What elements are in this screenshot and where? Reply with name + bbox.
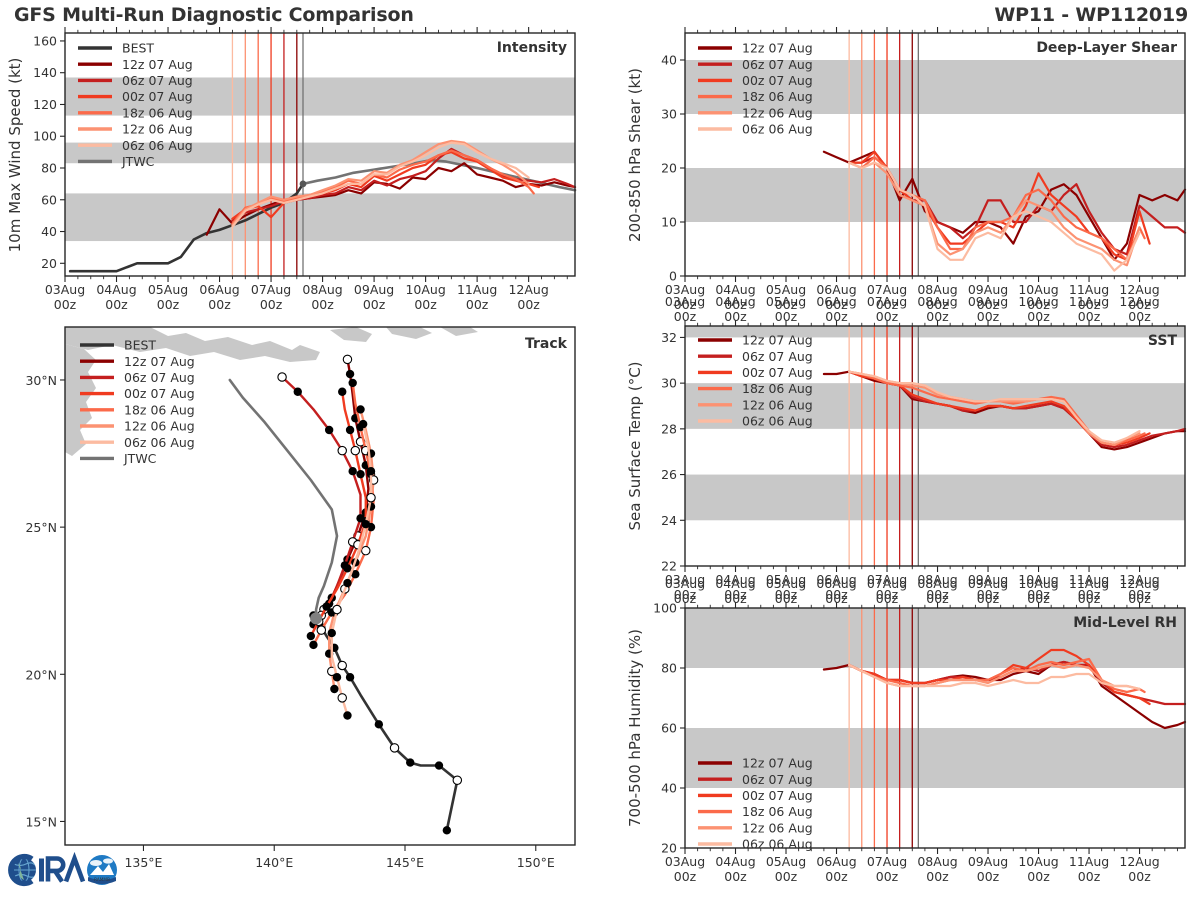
track-marker-filled [356,423,364,431]
series-06z-07-aug [232,149,575,221]
x-tick-day-label: 08Aug [917,294,957,309]
x-tick-hour-label: 00z [825,297,848,312]
track-jtwc [230,380,337,618]
track-marker-filled [362,508,370,516]
y-tick-label: 28 [661,421,677,436]
plot-frame [685,608,1185,848]
x-tick-hour-label: 00z [977,297,1000,312]
series-12z-06-aug [849,372,1139,445]
lon-tick-label: 140°E [255,855,293,870]
x-tick-hour-label: 00z [724,587,747,602]
series-best [70,184,303,271]
x-tick-day-label: 11Aug [1069,294,1109,309]
x-tick-day-label: 12Aug [1119,282,1159,297]
series-12z-07-aug [824,372,1185,450]
x-tick-hour-label: 00z [724,869,747,884]
x-axis-tick-group: 05Aug00z [766,282,806,312]
series-18z-06-aug [849,659,1145,692]
legend-label-06z-07-aug: 06z 07 Aug [122,73,193,88]
shear-y-axis-title: 200-850 hPa Shear (kt) [626,68,644,242]
track-marker-open [453,776,461,784]
x-tick-day-label: 06Aug [816,282,856,297]
x-tick-day-label: 07Aug [867,282,907,297]
x-tick-day-label: 04Aug [715,854,755,869]
x-tick-hour-label: 00z [1128,587,1151,602]
x-axis-tick-group: 11Aug00z [457,282,497,312]
intensity-y-axis-title: 10m Max Wind Speed (kt) [6,58,24,253]
series-12z-07-aug [824,152,1185,260]
y-tick-label: 40 [661,53,677,68]
best-endpoint-marker [300,180,307,187]
series-jtwc [303,160,575,190]
x-tick-day-label: 04Aug [96,282,136,297]
track-marker-open [312,614,320,622]
x-tick-hour-label: 00z [724,297,747,312]
x-tick-day-label: 12Aug [1119,854,1159,869]
legend-label-18z-06-aug: 18z 06 Aug [124,402,195,417]
x-tick-hour-label: 00z [876,297,899,312]
ocean-background [65,327,575,845]
background-band [65,77,575,115]
legend-label-12z-07-aug: 12z 07 Aug [742,333,813,348]
track-marker-open [338,661,346,669]
track-06z-06-aug [332,424,371,715]
track-marker-filled [367,470,375,478]
x-tick-hour-label: 00z [1078,297,1101,312]
x-tick-day-label: 05Aug [148,282,188,297]
sst-y-axis-title: Sea Surface Temp (°C) [626,361,644,530]
x-tick-day-label: 05Aug [766,294,806,309]
track-marker-filled [330,644,338,652]
legend-label-06z-06-aug: 06z 06 Aug [122,138,193,153]
x-axis-tick-group: 05Aug00z [766,572,806,602]
x-tick-day-label: 12Aug [508,282,548,297]
y-tick-label: 22 [661,559,677,574]
track-marker-filled [341,561,349,569]
x-tick-day-label: 04Aug [715,294,755,309]
track-marker-filled [356,405,364,413]
track-marker-filled [346,673,354,681]
x-axis-tick-group: 12Aug00z [1119,576,1159,606]
x-tick-hour-label: 00z [977,869,1000,884]
lat-tick-label: 25°N [25,520,57,535]
x-axis-tick-group: 04Aug00z [715,282,755,312]
x-axis-tick-group: 07Aug00z [867,572,907,602]
track-06z-07-aug [282,377,360,624]
x-tick-day-label: 05Aug [766,282,806,297]
x-tick-hour-label: 00z [674,869,697,884]
series-12z-07-aug [207,163,575,235]
series-18z-06-aug [849,157,1145,260]
x-tick-day-label: 03Aug [665,576,705,591]
track-marker-filled [309,611,317,619]
track-marker-filled [309,641,317,649]
lat-tick-label: 30°N [25,373,57,388]
x-tick-hour-label: 00z [926,869,949,884]
series-00z-07-aug [849,372,1150,445]
x-axis-tick-group: 11Aug00z [1069,282,1109,312]
track-marker-filled [338,388,346,396]
y-tick-label: 10 [661,215,677,230]
landmass-0 [65,327,320,362]
track-marker-filled [367,523,375,531]
track-marker-filled [348,379,356,387]
track-18z-06-aug [314,383,374,645]
legend-label-06z-06-aug: 06z 06 Aug [742,414,813,429]
page-title: GFS Multi-Run Diagnostic Comparison [14,4,414,26]
track-marker-filled [367,502,375,510]
track-marker-filled [348,467,356,475]
x-tick-hour-label: 00z [674,309,697,324]
x-axis-tick-group: 09Aug00z [968,854,1008,884]
x-axis-tick-group: 12Aug00z [508,282,548,312]
legend-label-06z-06-aug: 06z 06 Aug [742,837,813,852]
track-marker-open [278,373,286,381]
track-marker-open [333,605,341,613]
x-tick-day-label: 10Aug [1018,282,1058,297]
landmass-3 [386,327,432,339]
x-axis-tick-group: 12Aug00z [1119,282,1159,312]
track-marker-filled [367,467,375,475]
x-tick-day-label: 07Aug [867,294,907,309]
track-marker-filled [362,517,370,525]
x-tick-day-label: 06Aug [816,854,856,869]
x-axis-tick-group: 09Aug00z [968,576,1008,606]
x-axis-tick-group: 07Aug00z [867,576,907,606]
x-tick-day-label: 04Aug [715,572,755,587]
background-band [685,326,1185,337]
x-axis-tick-group: 04Aug00z [96,282,136,312]
legend-label-12z-06-aug: 12z 06 Aug [742,397,813,412]
track-best [314,615,458,830]
track-marker-open [338,694,346,702]
x-tick-hour-label: 00z [825,591,848,606]
x-axis-tick-group: 03Aug00z [665,282,705,312]
x-tick-day-label: 05Aug [766,572,806,587]
track-marker-open [369,476,377,484]
x-tick-day-label: 08Aug [917,282,957,297]
y-tick-label: 140 [33,65,57,80]
lon-tick-label: 145°E [386,855,424,870]
track-marker-filled [343,579,351,587]
x-tick-hour-label: 00z [876,309,899,324]
x-tick-day-label: 03Aug [665,572,705,587]
x-axis-tick-group: 05Aug00z [766,576,806,606]
track-marker-filled [406,758,414,766]
x-tick-day-label: 09Aug [354,282,394,297]
series-06z-06-aug [849,372,1139,443]
plot-frame [685,326,1185,566]
x-axis-tick-group: 03Aug00z [665,576,705,606]
x-axis-tick-group: 09Aug00z [968,572,1008,602]
background-band [685,60,1185,114]
x-axis-tick-group: 08Aug00z [917,854,957,884]
x-axis-tick-group: 07Aug00z [867,294,907,324]
x-tick-day-label: 11Aug [1069,576,1109,591]
x-axis-tick-group: 05Aug00z [766,294,806,324]
x-tick-hour-label: 00z [54,297,77,312]
lon-tick-label: 150°E [517,855,555,870]
track-marker-filled [351,558,359,566]
x-tick-day-label: 03Aug [665,282,705,297]
x-tick-hour-label: 00z [1027,869,1050,884]
track-marker-filled [322,602,330,610]
x-axis-tick-group: 10Aug00z [1018,576,1058,606]
x-tick-hour-label: 00z [825,309,848,324]
series-00z-07-aug [232,152,539,219]
track-marker-open [354,532,362,540]
track-marker-filled [346,370,354,378]
logo-letter-r [48,859,63,882]
x-tick-day-label: 09Aug [968,282,1008,297]
legend-label-18z-06-aug: 18z 06 Aug [742,804,813,819]
legend-label-00z-07-aug: 00z 07 Aug [742,365,813,380]
x-axis-tick-group: 09Aug00z [354,282,394,312]
x-axis-tick-group: 04Aug00z [715,294,755,324]
y-tick-label: 20 [41,256,57,271]
legend-label-18z-06-aug: 18z 06 Aug [122,105,193,120]
x-tick-hour-label: 00z [876,869,899,884]
x-axis-tick-group: 04Aug00z [715,572,755,602]
track-marker-filled [333,673,341,681]
x-axis-tick-group: 09Aug00z [968,282,1008,312]
x-tick-hour-label: 00z [674,587,697,602]
series-18z-06-aug [232,151,533,224]
x-axis-tick-group: 11Aug00z [1069,854,1109,884]
panel-title-sst: SST [1148,333,1178,349]
x-tick-hour-label: 00z [876,587,899,602]
background-band [65,143,575,164]
legend-label-jtwc: JTWC [123,451,157,466]
logo-letter-i [39,859,44,882]
x-tick-hour-label: 00z [1128,297,1151,312]
track-marker-filled [307,632,315,640]
legend-label-12z-06-aug: 12z 06 Aug [742,820,813,835]
track-marker-open [320,605,328,613]
series-06z-06-aug [232,143,528,227]
landmass-4 [440,327,478,336]
track-marker-filled [359,420,367,428]
track-marker-filled [328,629,336,637]
background-band [685,383,1185,429]
x-axis-tick-group: 03Aug00z [665,854,705,884]
x-tick-day-label: 08Aug [917,572,957,587]
x-axis-tick-group: 08Aug00z [302,282,342,312]
x-tick-hour-label: 00z [724,591,747,606]
y-tick-label: 80 [661,661,677,676]
track-marker-filled [367,449,375,457]
y-tick-label: 100 [33,129,57,144]
x-axis-tick-group: 03Aug00z [665,294,705,324]
x-tick-hour-label: 00z [1078,309,1101,324]
track-marker-filled [362,461,370,469]
x-axis-tick-group: 04Aug00z [715,854,755,884]
x-tick-hour-label: 00z [1078,587,1101,602]
x-tick-hour-label: 00z [724,309,747,324]
x-tick-day-label: 08Aug [917,854,957,869]
track-marker-open [362,446,370,454]
track-12z-06-aug [329,409,373,689]
x-axis-tick-group: 07Aug00z [867,854,907,884]
track-marker-filled [443,826,451,834]
x-axis-tick-group: 06Aug00z [816,572,856,602]
x-tick-day-label: 05Aug [766,576,806,591]
track-marker-filled [346,426,354,434]
y-tick-label: 30 [661,376,677,391]
x-tick-day-label: 10Aug [405,282,445,297]
x-axis-tick-group: 06Aug00z [816,854,856,884]
x-axis-tick-group: 11Aug00z [1069,576,1109,606]
track-marker-open [390,744,398,752]
x-axis-tick-group: 12Aug00z [1119,572,1159,602]
x-tick-hour-label: 00z [105,297,128,312]
x-axis-tick-group: 10Aug00z [1018,572,1058,602]
track-frame [65,327,575,845]
legend-label-best: BEST [124,338,156,353]
x-tick-hour-label: 00z [311,297,334,312]
x-tick-day-label: 10Aug [1018,854,1058,869]
track-marker-open [338,446,346,454]
x-tick-day-label: 12Aug [1119,294,1159,309]
x-tick-hour-label: 00z [775,869,798,884]
x-axis-tick-group: 09Aug00z [968,294,1008,324]
legend-label-12z-06-aug: 12z 06 Aug [742,105,813,120]
jtwc-current-position-marker [310,612,322,624]
track-marker-filled [435,761,443,769]
legend-label-12z-07-aug: 12z 07 Aug [124,354,195,369]
x-tick-hour-label: 00z [1128,309,1151,324]
y-tick-label: 40 [661,781,677,796]
x-tick-hour-label: 00z [208,297,231,312]
x-axis-tick-group: 06Aug00z [816,576,856,606]
track-marker-open [341,585,349,593]
track-marker-open [351,446,359,454]
legend-label-00z-07-aug: 00z 07 Aug [124,386,195,401]
track-marker-filled [356,470,364,478]
rammb-text: RAMMB [94,877,110,882]
x-tick-day-label: 11Aug [1069,572,1109,587]
panel-title-shear: Deep-Layer Shear [1036,40,1177,56]
x-tick-hour-label: 00z [674,297,697,312]
y-tick-label: 40 [41,224,57,239]
x-tick-day-label: 06Aug [816,294,856,309]
track-marker-filled [343,555,351,563]
x-axis-tick-group: 06Aug00z [816,282,856,312]
track-marker-open [348,538,356,546]
x-tick-day-label: 07Aug [251,282,291,297]
legend-label-06z-07-aug: 06z 07 Aug [742,349,813,364]
legend-label-12z-06-aug: 12z 06 Aug [122,122,193,137]
track-marker-filled [325,426,333,434]
legend-label-18z-06-aug: 18z 06 Aug [742,89,813,104]
track-marker-open [343,355,351,363]
x-tick-hour-label: 00z [876,591,899,606]
background-band [685,728,1185,788]
track-marker-filled [362,520,370,528]
x-axis-tick-group: 07Aug00z [867,282,907,312]
legend-label-18z-06-aug: 18z 06 Aug [742,381,813,396]
x-tick-hour-label: 00z [674,591,697,606]
x-tick-hour-label: 00z [977,591,1000,606]
x-axis-tick-group: 08Aug00z [917,282,957,312]
x-tick-day-label: 10Aug [1018,576,1058,591]
x-tick-day-label: 09Aug [968,294,1008,309]
track-marker-filled [343,564,351,572]
x-tick-hour-label: 00z [1078,869,1101,884]
x-tick-hour-label: 00z [1078,591,1101,606]
x-tick-hour-label: 00z [926,591,949,606]
series-12z-06-aug [849,665,1139,689]
series-06z-06-aug [849,665,1139,689]
panel-title-intensity: Intensity [497,40,567,56]
y-tick-label: 30 [661,107,677,122]
x-tick-day-label: 03Aug [45,282,85,297]
y-tick-label: 20 [661,161,677,176]
x-tick-day-label: 05Aug [766,854,806,869]
legend-label-00z-07-aug: 00z 07 Aug [742,73,813,88]
track-marker-filled [328,608,336,616]
track-marker-filled [330,608,338,616]
x-tick-hour-label: 00z [1128,869,1151,884]
x-axis-tick-group: 12Aug00z [1119,294,1159,324]
y-tick-label: 80 [41,161,57,176]
legend-label-00z-07-aug: 00z 07 Aug [742,788,813,803]
x-tick-hour-label: 00z [926,309,949,324]
track-marker-filled [330,685,338,693]
y-tick-label: 60 [661,721,677,736]
x-axis-tick-group: 11Aug00z [1069,294,1109,324]
x-tick-day-label: 11Aug [1069,282,1109,297]
track-marker-open [328,667,336,675]
x-tick-day-label: 12Aug [1119,572,1159,587]
x-tick-day-label: 03Aug [665,854,705,869]
y-tick-label: 120 [33,97,57,112]
background-band [65,193,575,241]
x-tick-hour-label: 00z [977,587,1000,602]
x-tick-day-label: 10Aug [1018,572,1058,587]
x-tick-day-label: 11Aug [1069,854,1109,869]
x-axis-tick-group: 05Aug00z [148,282,188,312]
legend-label-06z-06-aug: 06z 06 Aug [742,122,813,137]
y-tick-label: 60 [41,192,57,207]
track-marker-open [367,494,375,502]
legend-label-00z-07-aug: 00z 07 Aug [122,89,193,104]
x-tick-day-label: 11Aug [457,282,497,297]
track-marker-filled [294,388,302,396]
legend-label-06z-07-aug: 06z 07 Aug [742,772,813,787]
x-axis-tick-group: 11Aug00z [1069,572,1109,602]
track-marker-filled [375,720,383,728]
x-tick-day-label: 09Aug [968,572,1008,587]
x-tick-day-label: 09Aug [968,854,1008,869]
y-tick-label: 24 [661,513,677,528]
x-axis-tick-group: 06Aug00z [199,282,239,312]
x-tick-hour-label: 00z [363,297,386,312]
x-tick-hour-label: 00z [1027,587,1050,602]
x-tick-day-label: 07Aug [867,572,907,587]
lon-tick-label: 135°E [124,855,162,870]
series-06z-07-aug [849,372,1185,447]
track-00z-07-aug [311,392,366,636]
landmass-1 [65,344,96,456]
background-band [685,168,1185,222]
x-tick-day-label: 07Aug [867,854,907,869]
series-00z-07-aug [849,152,1150,260]
x-tick-day-label: 04Aug [715,282,755,297]
track-marker-open [354,541,362,549]
x-axis-tick-group: 06Aug00z [816,294,856,324]
series-06z-07-aug [849,662,1185,704]
